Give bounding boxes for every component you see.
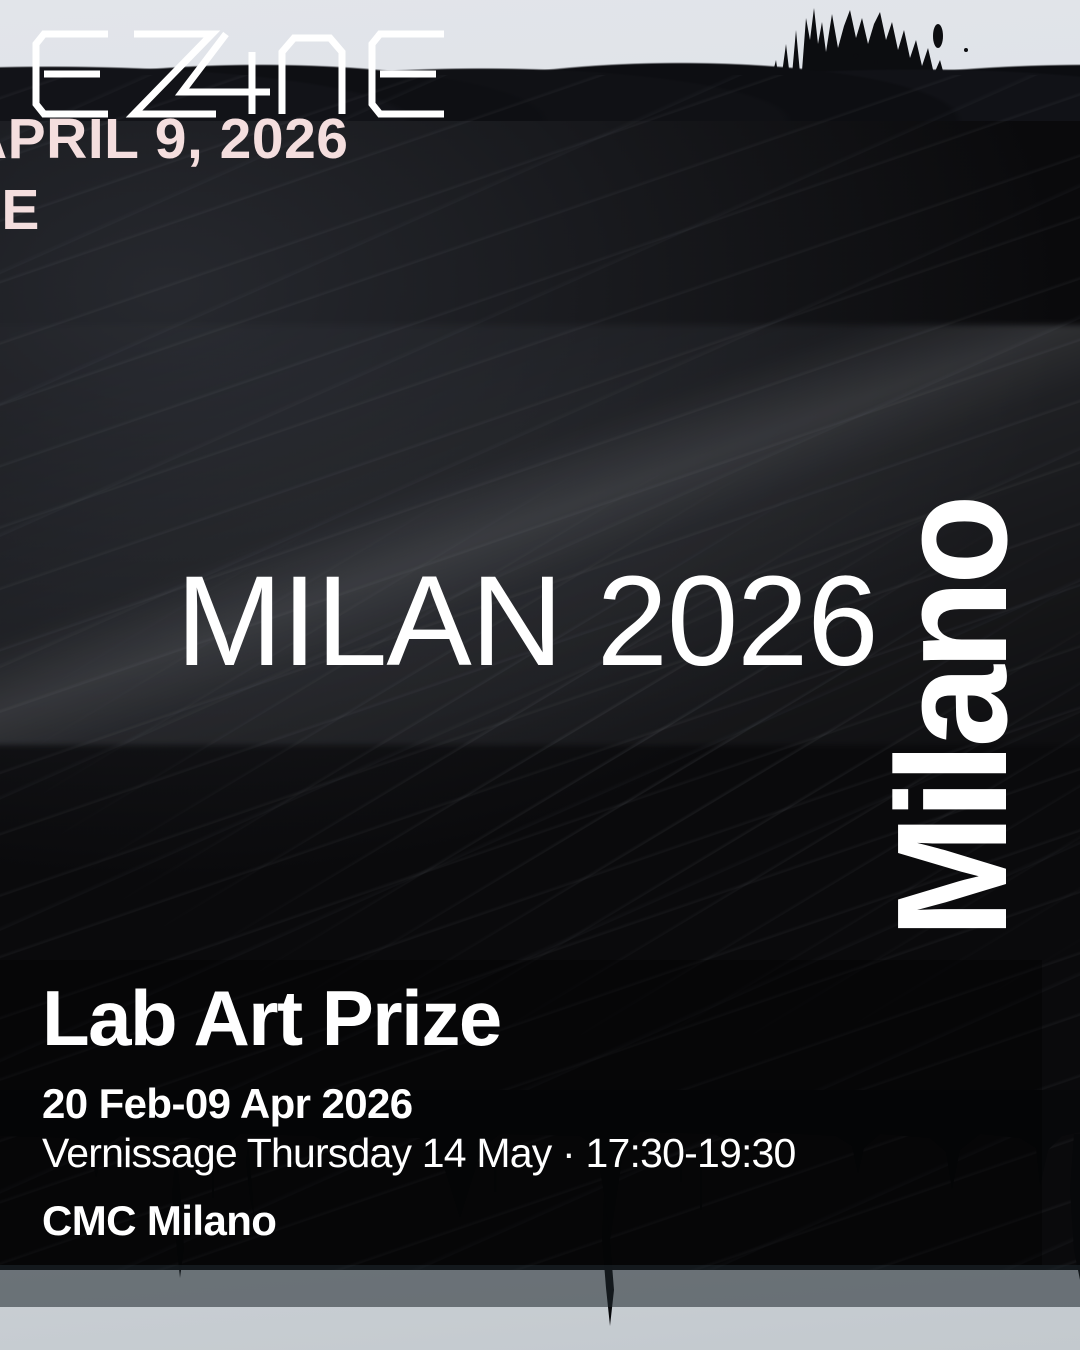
vertical-milano-text: Milano	[875, 499, 1032, 938]
overline-date: APRIL 9, 2026	[0, 112, 348, 167]
overline-block: APRIL 9, 2026 ZE	[0, 112, 348, 237]
poster-canvas: APRIL 9, 2026 ZE MILAN 2026 Milano Lab A…	[0, 0, 1080, 1350]
overline-word: ZE	[0, 183, 348, 238]
footer-overlay-band	[0, 1265, 1080, 1307]
event-dates: 20 Feb-09 Apr 2026	[42, 1082, 942, 1126]
vertical-milano-wordmark: Milano	[868, 0, 1038, 418]
event-title: Lab Art Prize	[42, 980, 942, 1056]
details-block: Lab Art Prize 20 Feb-09 Apr 2026 Verniss…	[42, 980, 942, 1243]
event-venue: CMC Milano	[42, 1199, 942, 1243]
event-vernissage: Vernissage Thursday 14 May · 17:30-19:30	[42, 1131, 942, 1175]
hero-headline: MILAN 2026	[176, 558, 878, 686]
